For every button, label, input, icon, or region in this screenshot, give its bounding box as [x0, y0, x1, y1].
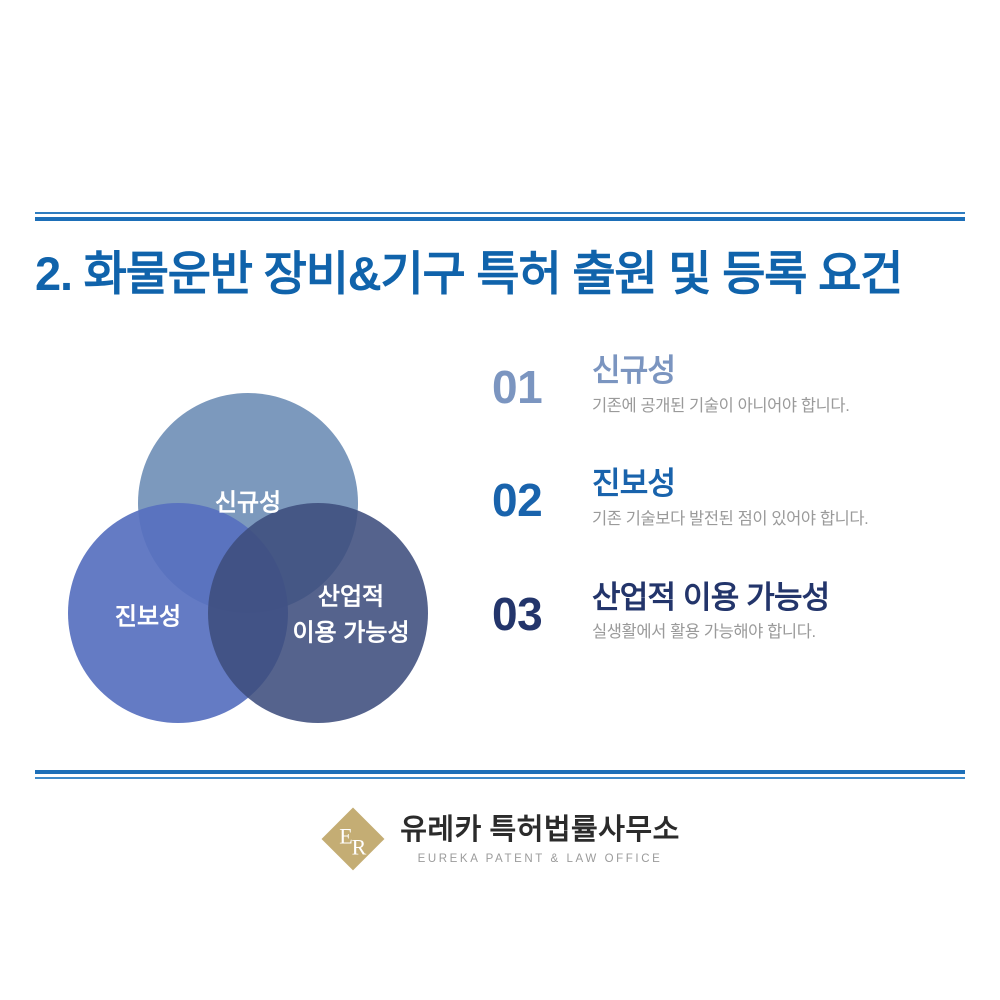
- requirement-title-02: 진보성: [592, 465, 962, 503]
- requirement-text-03: 산업적 이용 가능성 실생활에서 활용 가능해야 합니다.: [592, 579, 962, 644]
- requirement-title-01: 신규성: [592, 352, 962, 390]
- requirement-item-03: 03 산업적 이용 가능성 실생활에서 활용 가능해야 합니다.: [492, 579, 962, 644]
- requirement-description-03: 실생활에서 활용 가능해야 합니다.: [592, 622, 962, 643]
- venn-label-industrial-applicability-line2: 이용 가능성: [292, 620, 409, 647]
- requirements-list: 01 신규성 기존에 공개된 기술이 아니어야 합니다. 02 진보성 기존 기…: [492, 352, 962, 644]
- logo-name-korean: 유레카 특허법률사무소: [400, 815, 680, 847]
- footer-logo: E R 유레카 특허법률사무소 EUREKA PATENT & LAW OFFI…: [0, 806, 1000, 872]
- requirement-item-01: 01 신규성 기존에 공개된 기술이 아니어야 합니다.: [492, 352, 962, 417]
- svg-text:R: R: [352, 835, 367, 860]
- requirement-text-01: 신규성 기존에 공개된 기술이 아니어야 합니다.: [592, 352, 962, 417]
- divider-top: [35, 212, 965, 221]
- divider-top-thick-line: [35, 217, 965, 221]
- divider-bottom-thick-line: [35, 770, 965, 774]
- venn-label-industrial-applicability-line1: 산업적: [318, 584, 384, 611]
- divider-top-thin-line: [35, 212, 965, 214]
- logo-name-english: EUREKA PATENT & LAW OFFICE: [418, 853, 663, 865]
- venn-label-inventive-step: 진보성: [115, 604, 181, 631]
- requirement-number-01: 01: [492, 352, 592, 410]
- venn-circle-industrial-applicability: [208, 503, 428, 723]
- requirement-title-03: 산업적 이용 가능성: [592, 579, 962, 617]
- venn-label-novelty: 신규성: [215, 490, 281, 517]
- logo-diamond-icon: E R: [320, 806, 386, 872]
- requirement-description-02: 기존 기술보다 발전된 점이 있어야 합니다.: [592, 509, 962, 530]
- venn-diagram: 신규성 진보성 산업적 이용 가능성: [55, 345, 445, 735]
- slide-canvas: 2. 화물운반 장비&기구 특허 출원 및 등록 요건 신규성 진보성 산업적 …: [0, 0, 1000, 1000]
- requirement-item-02: 02 진보성 기존 기술보다 발전된 점이 있어야 합니다.: [492, 465, 962, 530]
- requirement-number-03: 03: [492, 579, 592, 637]
- page-title: 2. 화물운반 장비&기구 특허 출원 및 등록 요건: [35, 248, 902, 300]
- requirement-description-01: 기존에 공개된 기술이 아니어야 합니다.: [592, 396, 962, 417]
- divider-bottom-thin-line: [35, 777, 965, 779]
- divider-bottom: [35, 770, 965, 779]
- requirement-text-02: 진보성 기존 기술보다 발전된 점이 있어야 합니다.: [592, 465, 962, 530]
- requirement-number-02: 02: [492, 465, 592, 523]
